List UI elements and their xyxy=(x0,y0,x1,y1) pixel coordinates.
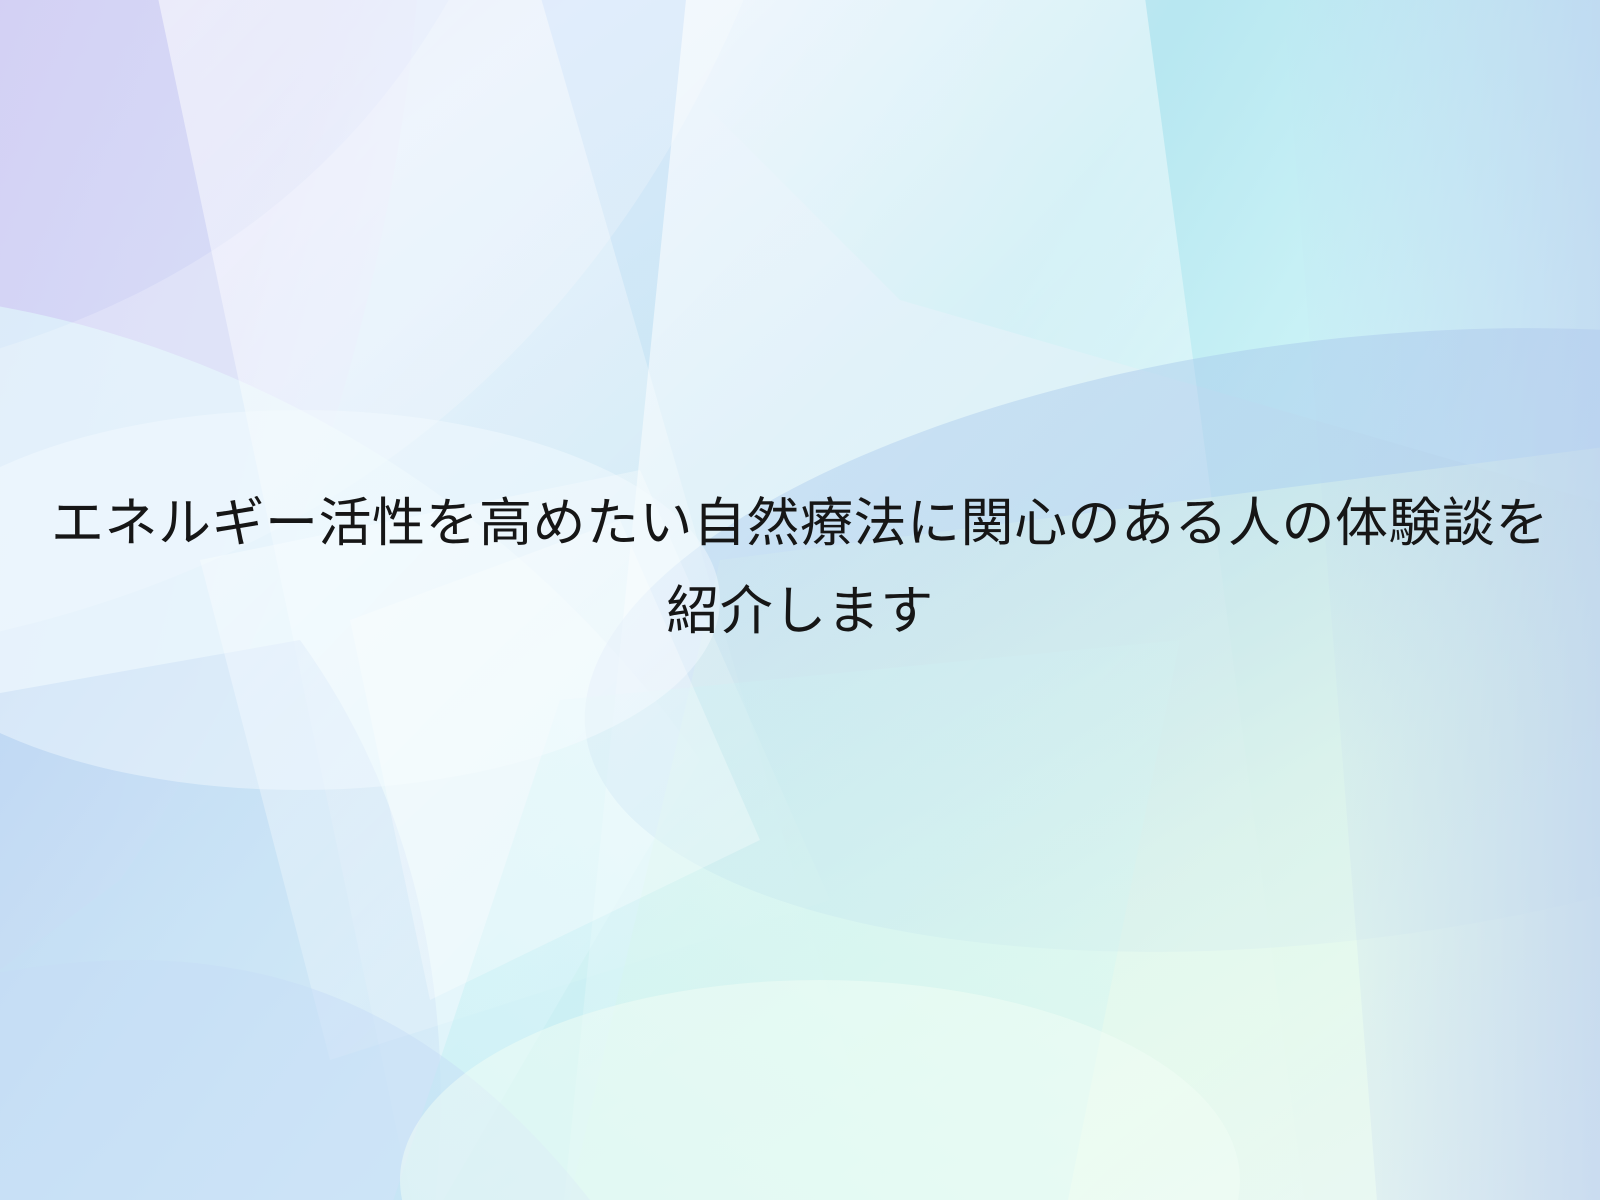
slide-background xyxy=(0,0,1600,1200)
background-artwork xyxy=(0,0,1600,1200)
presentation-slide: エネルギー活性を高めたい自然療法に関心のある人の体験談を紹介します xyxy=(0,0,1600,1200)
